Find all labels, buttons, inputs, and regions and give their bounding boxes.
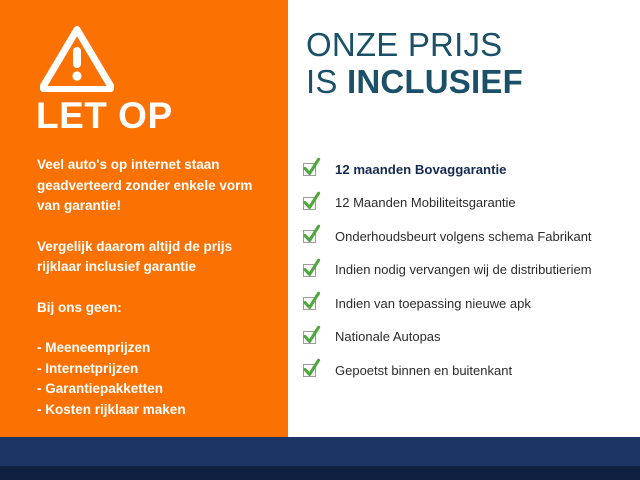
- green-checkmark-icon: [302, 362, 319, 379]
- green-checkmark-icon: [302, 295, 319, 312]
- list-item: Nationale Autopas: [302, 321, 638, 355]
- feature-label: Indien nodig vervangen wij de distributi…: [335, 262, 592, 278]
- promo-banner: LET OP Veel auto's op internet staan gea…: [0, 0, 640, 480]
- list-item: 12 Maanden Mobiliteitsgarantie: [302, 187, 638, 221]
- exclusion-list: - Meeneemprijzen - Internetprijzen - Gar…: [37, 338, 277, 420]
- list-item: Indien van toepassing nieuwe apk: [302, 287, 638, 321]
- warning-paragraph-3: Bij ons geen:: [37, 298, 277, 319]
- warning-paragraph-1: Veel auto's op internet staan geadvertee…: [37, 155, 277, 217]
- footer-bar-navy: [0, 437, 640, 466]
- list-item: 12 maanden Bovaggarantie: [302, 153, 638, 187]
- green-checkmark-icon: [302, 195, 319, 212]
- feature-list: 12 maanden Bovaggarantie 12 Maanden Mobi…: [302, 153, 638, 388]
- page-title: LET OP: [36, 95, 173, 137]
- warning-paragraph-2: Vergelijk daarom altijd de prijs rijklaa…: [37, 237, 277, 278]
- green-checkmark-icon: [302, 262, 319, 279]
- green-checkmark-icon: [302, 329, 319, 346]
- list-item: - Internetprijzen: [37, 359, 277, 380]
- green-checkmark-icon: [302, 228, 319, 245]
- feature-label: 12 maanden Bovaggarantie: [335, 162, 507, 178]
- heading-strong: INCLUSIEF: [347, 63, 523, 100]
- list-item: Onderhoudsbeurt volgens schema Fabrikant: [302, 220, 638, 254]
- feature-label: Onderhoudsbeurt volgens schema Fabrikant: [335, 229, 592, 245]
- list-item: - Meeneemprijzen: [37, 338, 277, 359]
- footer-bar-navy-dark: [0, 466, 640, 480]
- panel-heading: ONZE PRIJS IS INCLUSIEF: [306, 26, 523, 100]
- feature-label: Nationale Autopas: [335, 329, 441, 345]
- warning-body: Veel auto's op internet staan geadvertee…: [37, 155, 277, 420]
- warning-panel: LET OP Veel auto's op internet staan gea…: [0, 0, 288, 437]
- feature-label: Indien van toepassing nieuwe apk: [335, 296, 531, 312]
- feature-label: Gepoetst binnen en buitenkant: [335, 363, 512, 379]
- list-item: - Kosten rijklaar maken: [37, 400, 277, 421]
- green-checkmark-icon: [302, 161, 319, 178]
- inclusive-price-panel: ONZE PRIJS IS INCLUSIEF 12 maanden Bovag…: [288, 0, 640, 437]
- list-item: - Garantiepakketten: [37, 379, 277, 400]
- heading-prefix: IS: [306, 63, 347, 100]
- heading-line-1: ONZE PRIJS: [306, 26, 523, 63]
- list-item: Indien nodig vervangen wij de distributi…: [302, 254, 638, 288]
- list-item: Gepoetst binnen en buitenkant: [302, 354, 638, 388]
- heading-line-2: IS INCLUSIEF: [306, 63, 523, 100]
- feature-label: 12 Maanden Mobiliteitsgarantie: [335, 195, 516, 211]
- warning-triangle-exclamation-icon: [40, 24, 114, 92]
